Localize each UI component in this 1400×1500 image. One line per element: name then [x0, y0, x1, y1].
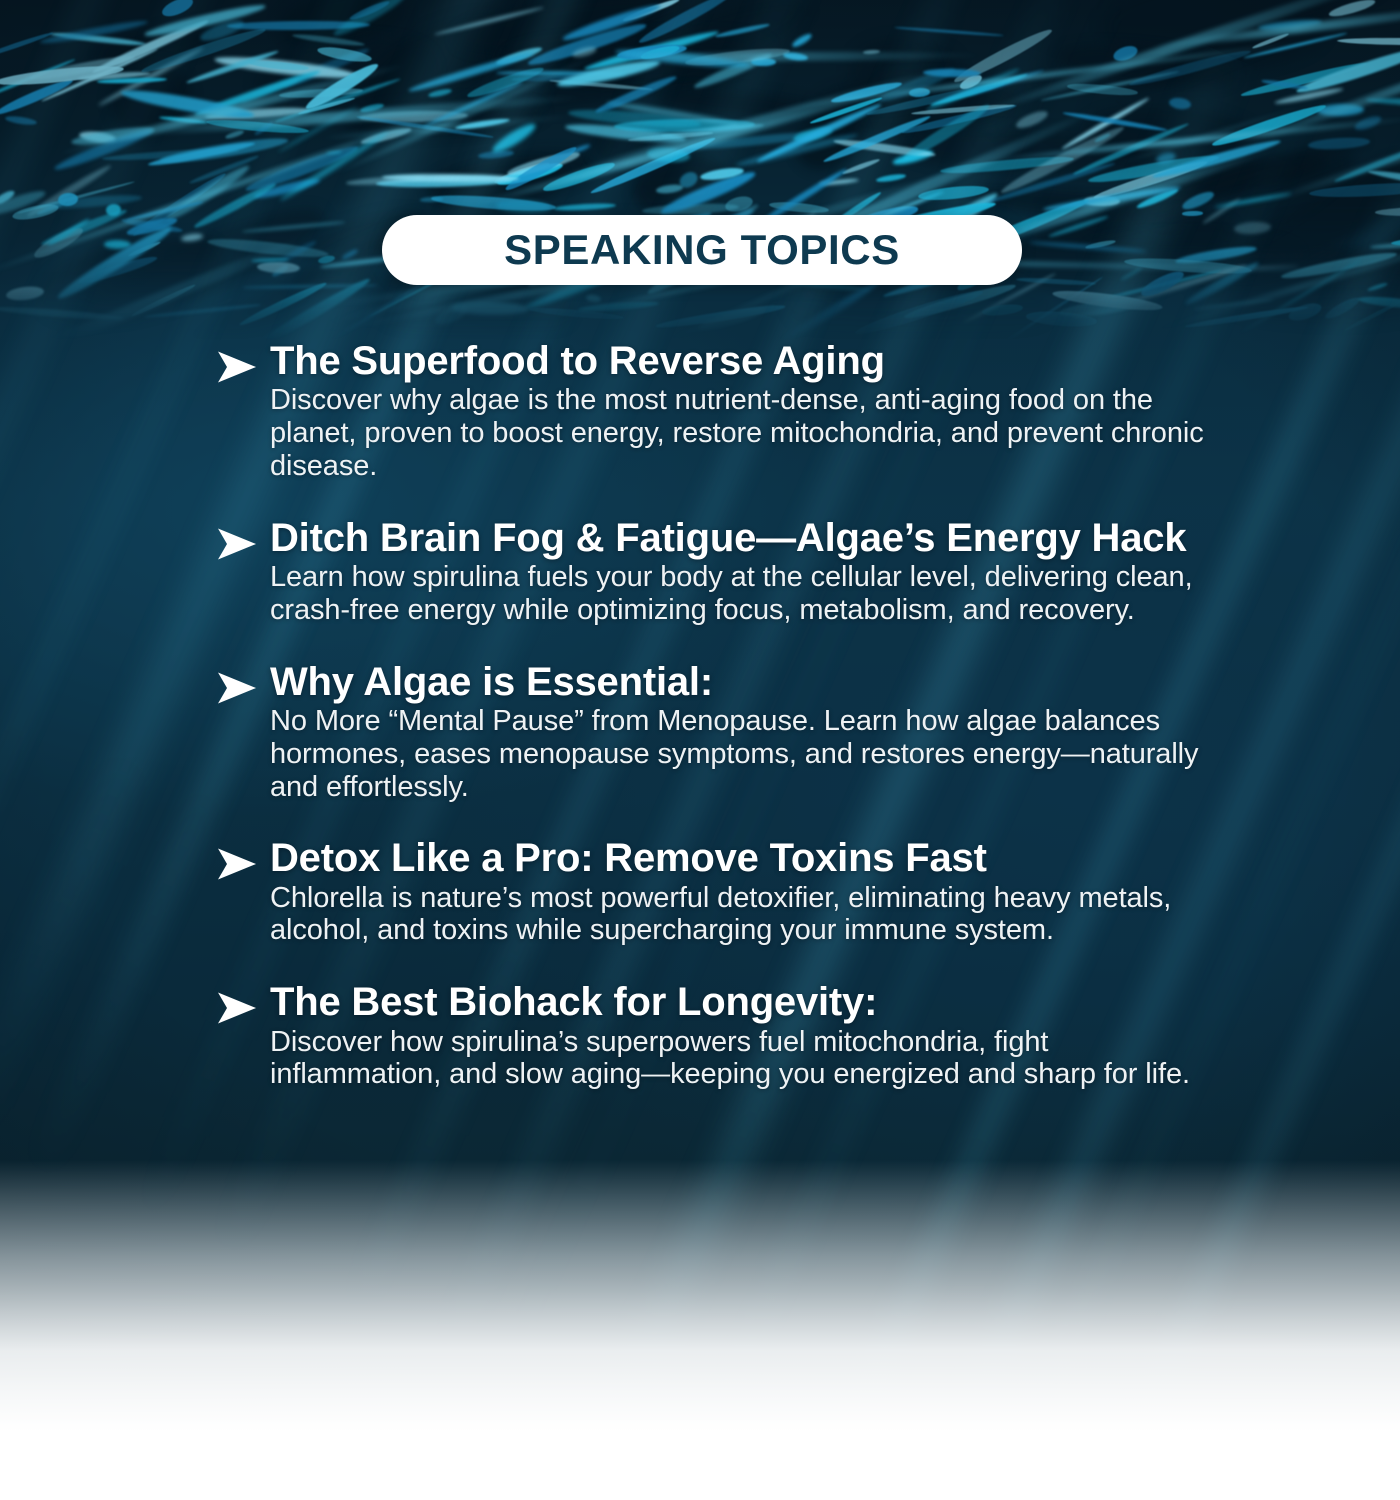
topic-title: Detox Like a Pro: Remove Toxins Fast	[270, 837, 1226, 879]
topic-item: Ditch Brain Fog & Fatigue—Algae’s Energy…	[216, 517, 1226, 627]
speaking-topics-poster: SPEAKING TOPICS The Superfood to Reverse…	[0, 0, 1400, 1500]
topic-title: Ditch Brain Fog & Fatigue—Algae’s Energy…	[270, 517, 1226, 559]
topic-item: Why Algae is Essential:No More “Mental P…	[216, 661, 1226, 804]
topic-description: Learn how spirulina fuels your body at t…	[270, 561, 1226, 627]
arrow-right-triangle-icon	[216, 847, 258, 881]
arrow-right-triangle-icon	[216, 991, 258, 1025]
topic-item: The Superfood to Reverse AgingDiscover w…	[216, 340, 1226, 483]
topic-description: Discover how spirulina’s superpowers fue…	[270, 1026, 1226, 1092]
topic-description: No More “Mental Pause” from Menopause. L…	[270, 705, 1226, 803]
speaking-topics-badge: SPEAKING TOPICS	[382, 215, 1022, 285]
topic-title: Why Algae is Essential:	[270, 661, 1226, 703]
topic-item: Detox Like a Pro: Remove Toxins FastChlo…	[216, 837, 1226, 947]
arrow-right-triangle-icon	[216, 671, 258, 705]
topics-list: The Superfood to Reverse AgingDiscover w…	[216, 340, 1226, 1091]
badge-title: SPEAKING TOPICS	[504, 229, 900, 271]
topic-description: Chlorella is nature’s most powerful deto…	[270, 882, 1226, 948]
arrow-right-triangle-icon	[216, 350, 258, 384]
topic-title: The Superfood to Reverse Aging	[270, 340, 1226, 382]
topic-item: The Best Biohack for Longevity:Discover …	[216, 981, 1226, 1091]
arrow-right-triangle-icon	[216, 527, 258, 561]
topic-description: Discover why algae is the most nutrient-…	[270, 384, 1226, 482]
topic-title: The Best Biohack for Longevity:	[270, 981, 1226, 1023]
